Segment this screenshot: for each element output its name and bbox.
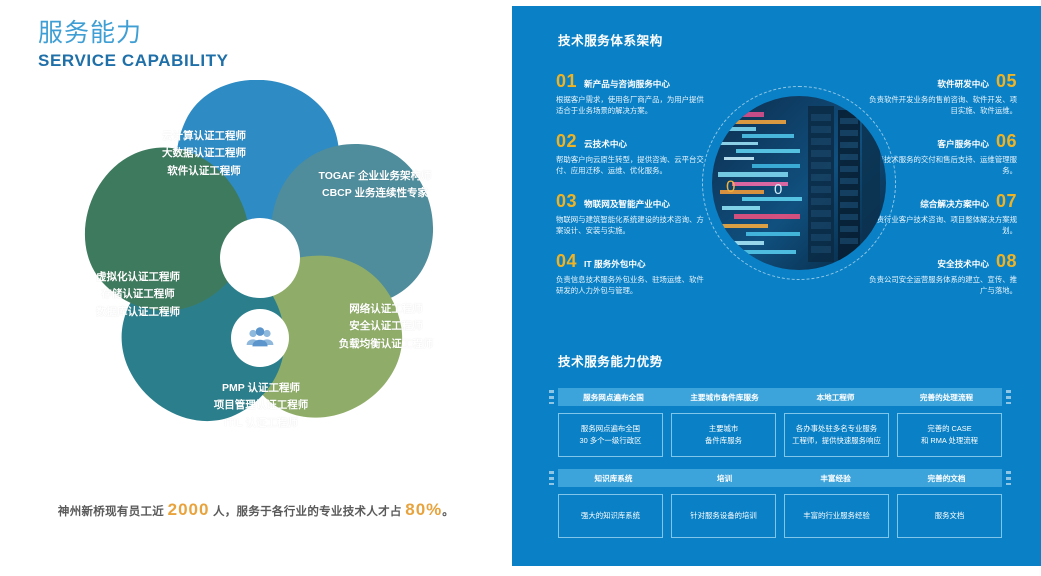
item-number: 06 bbox=[996, 132, 1017, 150]
service-center-item: 软件研发中心 05 负责软件开发业务的售前咨询、软件开发、项目实施、软件运维。 bbox=[865, 72, 1017, 117]
petal-label-pmp: PMP 认证工程师 项目管理认证工程师 ITIL 认证工程师 bbox=[166, 380, 356, 432]
petal-line: PMP 认证工程师 bbox=[166, 380, 356, 397]
table-header-cell: 完善的文档 bbox=[891, 473, 1002, 484]
table-header-row: 知识库系统 培训 丰富经验 完善的文档 bbox=[558, 469, 1002, 487]
cell-line: 工程师，提供快速服务响应 bbox=[792, 435, 881, 447]
left-panel: 服务能力 SERVICE CAPABILITY bbox=[0, 0, 512, 576]
table-header-cell: 知识库系统 bbox=[558, 473, 669, 484]
service-center-item: 01 新产品与咨询服务中心 根据客户需求，使用各厂商产品，为用户提供适合于业务场… bbox=[556, 72, 708, 117]
item-description: 负责软件开发业务的售前咨询、软件开发、项目实施、软件运维。 bbox=[865, 94, 1017, 117]
header-tick-right bbox=[1006, 390, 1011, 404]
caption-percentage: 80% bbox=[405, 500, 442, 519]
table-cell: 强大的知识库系统 bbox=[558, 494, 663, 538]
cell-line: 服务网点遍布全国 bbox=[581, 423, 640, 435]
table-cell: 服务网点遍布全国 30 多个一级行政区 bbox=[558, 413, 663, 457]
petal-line: 安全认证工程师 bbox=[296, 318, 476, 335]
table-body-row: 强大的知识库系统 针对服务设备的培训 丰富的行业服务经验 服务文档 bbox=[558, 494, 1002, 538]
service-center-item: 02 云技术中心 帮助客户向云原生转型，提供咨询、云平台交付、应用迁移、运维、优… bbox=[556, 132, 708, 177]
cell-line: 备件库服务 bbox=[705, 435, 742, 447]
item-title: 新产品与咨询服务中心 bbox=[584, 80, 670, 90]
title-chinese: 服务能力 bbox=[38, 20, 229, 48]
table-header-cell: 完善的处理流程 bbox=[891, 392, 1002, 403]
cell-line: 强大的知识库系统 bbox=[581, 510, 640, 522]
flower-center-hub bbox=[231, 309, 289, 367]
cell-line: 主要城市 bbox=[709, 423, 739, 435]
item-title: 客户服务中心 bbox=[937, 140, 989, 150]
item-description: 负责信息技术服务外包业务、驻场运维、软件研发的人力外包与管理。 bbox=[556, 274, 708, 297]
item-title: 软件研发中心 bbox=[937, 80, 989, 90]
petal-label-togaf: TOGAF 企业业务架构师 CBCP 业务连续性专家 bbox=[280, 168, 470, 203]
item-number: 03 bbox=[556, 192, 577, 210]
table-cell: 完善的 CASE 和 RMA 处理流程 bbox=[897, 413, 1002, 457]
header-tick-left bbox=[549, 471, 554, 485]
advantage-section-title: 技术服务能力优势 bbox=[558, 351, 663, 370]
table-header-cell: 服务网点遍布全国 bbox=[558, 392, 669, 403]
petal-line: 存储认证工程师 bbox=[48, 286, 228, 303]
item-number: 01 bbox=[556, 72, 577, 90]
architecture-section-title: 技术服务体系架构 bbox=[558, 30, 663, 49]
svg-text:0: 0 bbox=[774, 181, 782, 198]
advantage-table-2: 知识库系统 培训 丰富经验 完善的文档 强大的知识库系统 针对服务设备的培训 丰… bbox=[558, 469, 1002, 538]
page-title: 服务能力 SERVICE CAPABILITY bbox=[38, 20, 229, 71]
cell-line: 针对服务设备的培训 bbox=[690, 510, 757, 522]
table-cell: 针对服务设备的培训 bbox=[671, 494, 776, 538]
cell-line: 和 RMA 处理流程 bbox=[921, 435, 978, 447]
service-center-item: 安全技术中心 08 负责公司安全运营服务体系的建立、宣传、推广与落地。 bbox=[865, 252, 1017, 297]
item-number: 05 bbox=[996, 72, 1017, 90]
petal-line: 软件认证工程师 bbox=[124, 163, 284, 180]
petal-line: 负载均衡认证工程师 bbox=[296, 336, 476, 353]
table-header-cell: 主要城市备件库服务 bbox=[669, 392, 780, 403]
item-description: 负责公司安全运营服务体系的建立、宣传、推广与落地。 bbox=[865, 274, 1017, 297]
advantage-table-1: 服务网点遍布全国 主要城市备件库服务 本地工程师 完善的处理流程 服务网点遍布全… bbox=[558, 388, 1002, 457]
petal-line: 虚拟化认证工程师 bbox=[48, 269, 228, 286]
table-header-cell: 培训 bbox=[669, 473, 780, 484]
right-blue-panel: 技术服务体系架构 01 新产品与咨询服务中心 根据客户需求，使用各厂商产品，为用… bbox=[512, 6, 1041, 566]
item-description: 根据客户需求，使用各厂商产品，为用户提供适合于业务场景的解决方案。 bbox=[556, 94, 708, 117]
datacenter-photo-graphic: 0 0 bbox=[712, 96, 886, 270]
item-description: 物联网与建筑智能化系统建设的技术咨询、方案设计、安装与实施。 bbox=[556, 214, 708, 237]
cell-line: 30 多个一级行政区 bbox=[579, 435, 641, 447]
caption-part-2: 人，服务于各行业的专业技术人才占 bbox=[213, 506, 402, 518]
people-group-icon bbox=[245, 326, 275, 350]
cell-line: 各办事处驻多名专业服务 bbox=[796, 423, 877, 435]
cell-line: 服务文档 bbox=[935, 510, 965, 522]
table-body-row: 服务网点遍布全国 30 多个一级行政区 主要城市 备件库服务 各办事处驻多名专业… bbox=[558, 413, 1002, 457]
item-description: 帮助客户向云原生转型，提供咨询、云平台交付、应用迁移、运维、优化服务。 bbox=[556, 154, 708, 177]
petal-line: 数据库认证工程师 bbox=[48, 304, 228, 321]
petal-line: CBCP 业务连续性专家 bbox=[280, 185, 470, 202]
header-tick-left bbox=[549, 390, 554, 404]
petal-label-network: 网络认证工程师 安全认证工程师 负载均衡认证工程师 bbox=[296, 301, 476, 353]
cell-line: 完善的 CASE bbox=[927, 423, 971, 435]
table-cell: 服务文档 bbox=[897, 494, 1002, 538]
petal-line: 大数据认证工程师 bbox=[124, 145, 284, 162]
petal-line: 云计算认证工程师 bbox=[124, 128, 284, 145]
item-title: 云技术中心 bbox=[584, 140, 627, 150]
item-title: 安全技术中心 bbox=[937, 260, 989, 270]
caption-part-1: 神州新桥现有员工近 bbox=[58, 506, 164, 518]
table-header-cell: 丰富经验 bbox=[780, 473, 891, 484]
item-number: 04 bbox=[556, 252, 577, 270]
capability-flower-diagram: 云计算认证工程师 大数据认证工程师 软件认证工程师 TOGAF 企业业务架构师 … bbox=[20, 80, 492, 470]
item-title: 物联网及智能产业中心 bbox=[584, 200, 670, 210]
petal-label-virtualization: 虚拟化认证工程师 存储认证工程师 数据库认证工程师 bbox=[48, 269, 228, 321]
item-number: 07 bbox=[996, 192, 1017, 210]
petal-line: ITIL 认证工程师 bbox=[166, 415, 356, 432]
datacenter-photo-ring: 0 0 bbox=[702, 86, 896, 280]
service-center-item: 04 IT 服务外包中心 负责信息技术服务外包业务、驻场运维、软件研发的人力外包… bbox=[556, 252, 708, 297]
table-header-cell: 本地工程师 bbox=[780, 392, 891, 403]
item-title: 综合解决方案中心 bbox=[920, 200, 989, 210]
item-number: 08 bbox=[996, 252, 1017, 270]
header-tick-right bbox=[1006, 471, 1011, 485]
datacenter-photo: 0 0 bbox=[712, 96, 886, 270]
petal-line: TOGAF 企业业务架构师 bbox=[280, 168, 470, 185]
item-number: 02 bbox=[556, 132, 577, 150]
caption-part-3: 。 bbox=[442, 506, 454, 518]
service-center-item: 03 物联网及智能产业中心 物联网与建筑智能化系统建设的技术咨询、方案设计、安装… bbox=[556, 192, 708, 237]
cell-line: 丰富的行业服务经验 bbox=[803, 510, 870, 522]
table-cell: 各办事处驻多名专业服务 工程师，提供快速服务响应 bbox=[784, 413, 889, 457]
service-center-list-left: 01 新产品与咨询服务中心 根据客户需求，使用各厂商产品，为用户提供适合于业务场… bbox=[556, 72, 708, 312]
petal-line: 项目管理认证工程师 bbox=[166, 397, 356, 414]
employee-caption: 神州新桥现有员工近 2000 人，服务于各行业的专业技术人才占 80%。 bbox=[0, 500, 512, 520]
table-cell: 丰富的行业服务经验 bbox=[784, 494, 889, 538]
item-title: IT 服务外包中心 bbox=[584, 260, 646, 270]
title-english: SERVICE CAPABILITY bbox=[38, 51, 229, 71]
petal-label-cloud: 云计算认证工程师 大数据认证工程师 软件认证工程师 bbox=[124, 128, 284, 180]
caption-employee-count: 2000 bbox=[168, 500, 210, 519]
svg-text:0: 0 bbox=[726, 177, 735, 196]
petal-line: 网络认证工程师 bbox=[296, 301, 476, 318]
table-cell: 主要城市 备件库服务 bbox=[671, 413, 776, 457]
table-header-row: 服务网点遍布全国 主要城市备件库服务 本地工程师 完善的处理流程 bbox=[558, 388, 1002, 406]
